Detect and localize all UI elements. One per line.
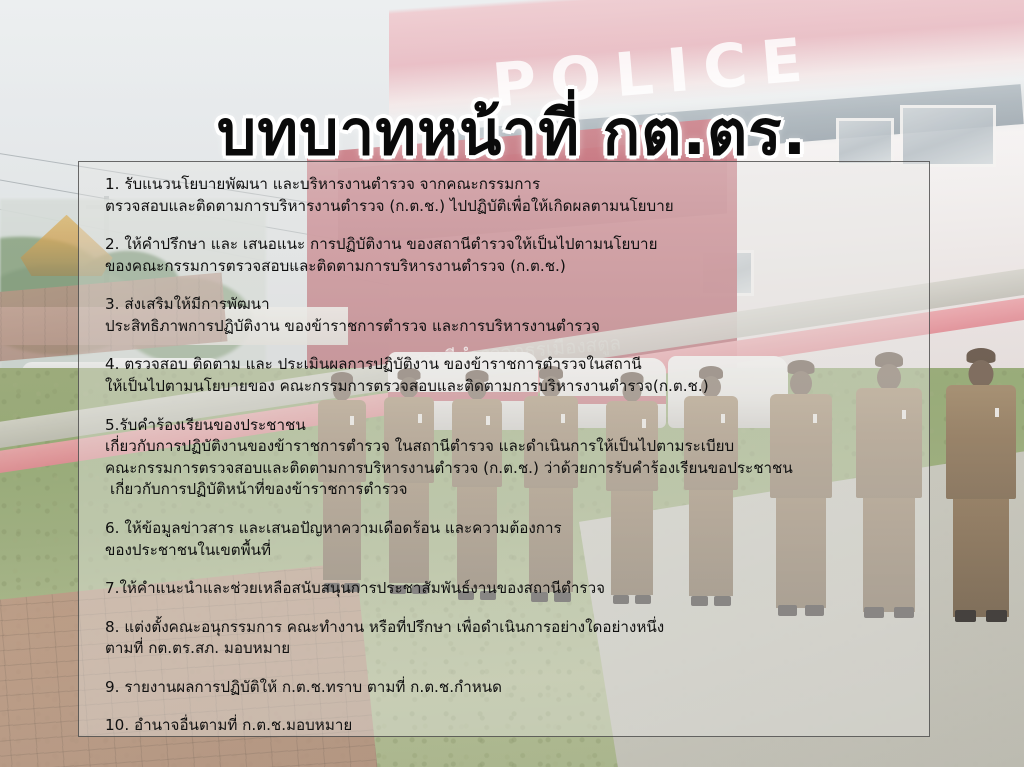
duty-item-line: 4. ตรวจสอบ ติดตาม และ ประเมินผลการปฏิบัต… bbox=[105, 354, 911, 376]
duties-list: 1. รับแนวนโยบายพัฒนา และบริหารงานตำรวจ จ… bbox=[105, 174, 911, 737]
duty-item: 7.ให้คำแนะนำและช่วยเหลือสนับสนุนการประชา… bbox=[105, 578, 911, 600]
duty-item: 3. ส่งเสริมให้มีการพัฒนาประสิทธิภาพการปฏ… bbox=[105, 294, 911, 337]
duty-item-line: 10. อำนาจอื่นตามที่ ก.ต.ช.มอบหมาย bbox=[105, 715, 911, 737]
duty-item-line: ประสิทธิภาพการปฏิบัติงาน ของข้าราชการตำร… bbox=[105, 316, 911, 338]
duty-item: 8. แต่งตั้งคณะอนุกรรมการ คณะทำงาน หรือที… bbox=[105, 617, 911, 660]
duty-item: 5.รับคำร้องเรียนของประชาชนเกี่ยวกับการปฏ… bbox=[105, 415, 911, 501]
officer-shoe bbox=[986, 610, 1007, 622]
duty-item: 6. ให้ข้อมูลข่าวสาร และเสนอปัญหาความเดือ… bbox=[105, 518, 911, 561]
officer-legs bbox=[953, 499, 1009, 617]
page-title: บทบาทหน้าที่ กต.ตร. bbox=[0, 100, 1024, 165]
duty-item-line: ตรวจสอบและติดตามการบริหารงานตำรวจ (ก.ต.ช… bbox=[105, 196, 911, 218]
duty-item-line: ตามที่ กต.ตร.สภ. มอบหมาย bbox=[105, 638, 911, 660]
duty-item-line: เกี่ยวกับการปฏิบัติงานของข้าราชการตำรวจ … bbox=[105, 436, 911, 458]
duty-item-line: 7.ให้คำแนะนำและช่วยเหลือสนับสนุนการประชา… bbox=[105, 578, 911, 600]
duty-item-line: 6. ให้ข้อมูลข่าวสาร และเสนอปัญหาความเดือ… bbox=[105, 518, 911, 540]
content-panel: 1. รับแนวนโยบายพัฒนา และบริหารงานตำรวจ จ… bbox=[78, 161, 930, 737]
duty-item-line: 9. รายงานผลการปฏิบัติให้ ก.ต.ช.ทราบ ตามท… bbox=[105, 677, 911, 699]
duty-item-line: เกี่ยวกับการปฏิบัติหน้าที่ของข้าราชการตำ… bbox=[105, 479, 911, 501]
duty-item-line: 2. ให้คำปรึกษา และ เสนอแนะ การปฏิบัติงาน… bbox=[105, 234, 911, 256]
duty-item-line: ให้เป็นไปตามนโยบายของ คณะกรรมการตรวจสอบแ… bbox=[105, 376, 911, 398]
duty-item-line: 5.รับคำร้องเรียนของประชาชน bbox=[105, 415, 911, 437]
duty-item-line: ของคณะกรรมการตรวจสอบและติดตามการบริหารงา… bbox=[105, 256, 911, 278]
duty-item: 2. ให้คำปรึกษา และ เสนอแนะ การปฏิบัติงาน… bbox=[105, 234, 911, 277]
duty-item-line: 8. แต่งตั้งคณะอนุกรรมการ คณะทำงาน หรือที… bbox=[105, 617, 911, 639]
slide-root: POLICE สถานีตำรวจภูธรเมืองสตูล STATION bbox=[0, 0, 1024, 767]
officer-badge bbox=[995, 408, 999, 417]
police-officer bbox=[946, 348, 1016, 622]
duty-item: 10. อำนาจอื่นตามที่ ก.ต.ช.มอบหมาย bbox=[105, 715, 911, 737]
duty-item: 1. รับแนวนโยบายพัฒนา และบริหารงานตำรวจ จ… bbox=[105, 174, 911, 217]
duty-item: 4. ตรวจสอบ ติดตาม และ ประเมินผลการปฏิบัต… bbox=[105, 354, 911, 397]
duty-item-line: คณะกรรมการตรวจสอบและติดตามการบริหารงานตำ… bbox=[105, 458, 911, 480]
duty-item-line: 3. ส่งเสริมให้มีการพัฒนา bbox=[105, 294, 911, 316]
officer-shoe bbox=[955, 610, 976, 622]
duty-item-line: 1. รับแนวนโยบายพัฒนา และบริหารงานตำรวจ จ… bbox=[105, 174, 911, 196]
duty-item-line: ของประชาชนในเขตพื้นที่ bbox=[105, 540, 911, 562]
officer-head bbox=[969, 360, 994, 388]
officer-torso bbox=[946, 385, 1016, 499]
duty-item: 9. รายงานผลการปฏิบัติให้ ก.ต.ช.ทราบ ตามท… bbox=[105, 677, 911, 699]
